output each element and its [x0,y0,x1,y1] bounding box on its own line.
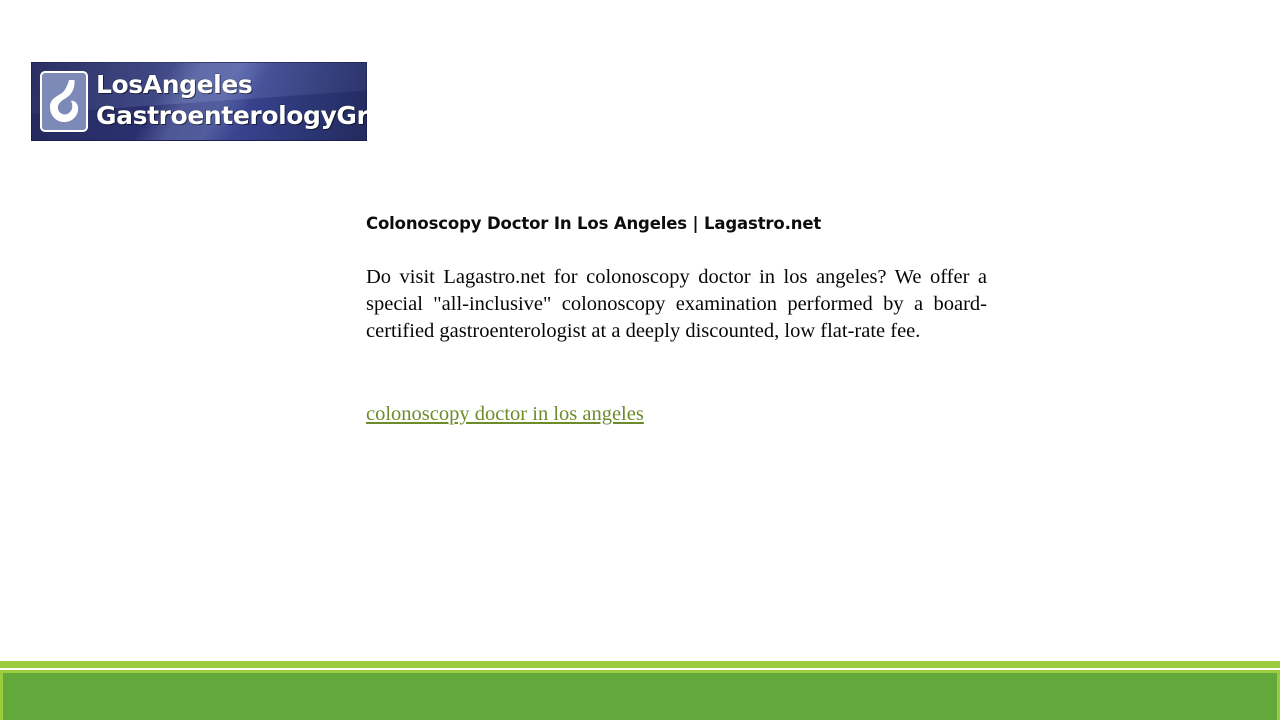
logo-line-1: LosAngeles [96,69,367,100]
slide-canvas: LosAngeles GastroenterologyGroup Colonos… [0,0,1280,720]
company-logo: LosAngeles GastroenterologyGroup [31,62,367,141]
page-title: Colonoscopy Doctor In Los Angeles | Laga… [366,214,987,234]
footer-bar [0,670,1280,720]
link-row: colonoscopy doctor in los angeles [366,401,987,428]
article-content: Colonoscopy Doctor In Los Angeles | Laga… [366,214,987,428]
stomach-icon [40,71,88,132]
article-paragraph: Do visit Lagastro.net for colonoscopy do… [366,264,987,345]
logo-wordmark: LosAngeles GastroenterologyGroup [96,69,367,131]
colonoscopy-doctor-link[interactable]: colonoscopy doctor in los angeles [366,403,644,425]
footer-accent-bar [0,661,1280,668]
logo-line-2: GastroenterologyGroup [96,100,367,131]
